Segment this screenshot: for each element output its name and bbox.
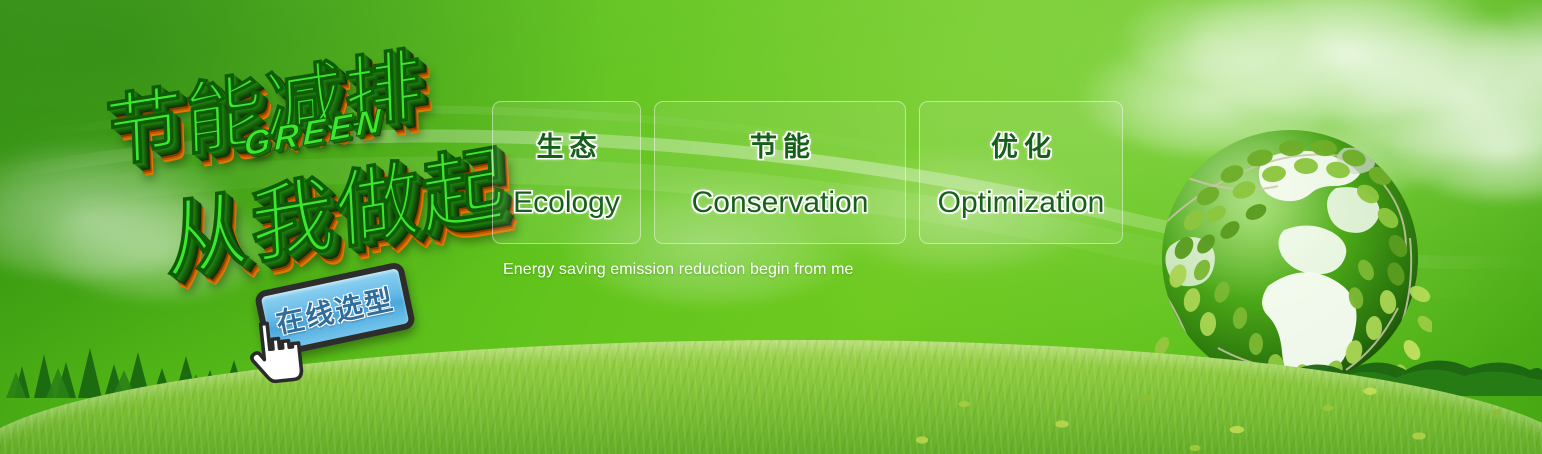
headline-3d-artwork: 节能减排 GREEN 从我做起 bbox=[85, 18, 497, 292]
feature-card-cn-label: 生态 bbox=[531, 125, 603, 164]
cloud-icon bbox=[40, 190, 280, 300]
feature-card-optimization[interactable]: 优化 Optimization bbox=[919, 101, 1123, 244]
online-selection-button[interactable]: 在线选型 bbox=[254, 261, 417, 359]
feature-card-cn-label: 节能 bbox=[744, 125, 816, 164]
cloud-icon bbox=[1390, 90, 1542, 200]
cloud-icon bbox=[1460, 0, 1542, 110]
banner-tagline: Energy saving emission reduction begin f… bbox=[503, 261, 854, 279]
feature-card-en-label: Conservation bbox=[692, 186, 869, 220]
feature-card-en-label: Ecology bbox=[513, 186, 620, 220]
feature-card-ecology[interactable]: 生态 Ecology bbox=[492, 101, 641, 244]
feature-card-en-label: Optimization bbox=[938, 186, 1105, 220]
leaf-litter-icon bbox=[880, 380, 1542, 454]
cloud-icon bbox=[0, 140, 240, 280]
green-energy-banner: 节能减排 GREEN 从我做起 在线选型 生态 Ecology 节能 Conse… bbox=[0, 0, 1542, 454]
feature-card-cn-label: 优化 bbox=[985, 125, 1057, 164]
headline-line-green: GREEN bbox=[244, 101, 385, 165]
cloud-icon bbox=[1180, 0, 1510, 120]
cloud-icon bbox=[1120, 0, 1300, 80]
cloud-icon bbox=[1320, 20, 1542, 160]
headline-line-top: 节能减排 bbox=[103, 21, 425, 183]
online-selection-label: 在线选型 bbox=[272, 278, 398, 342]
cloud-icon bbox=[1230, 105, 1450, 200]
headline-line-bottom: 从我做起 bbox=[162, 116, 510, 297]
feature-card-list: 生态 Ecology 节能 Conservation 优化 Optimizati… bbox=[492, 101, 1123, 244]
feature-card-conservation[interactable]: 节能 Conservation bbox=[654, 101, 906, 244]
